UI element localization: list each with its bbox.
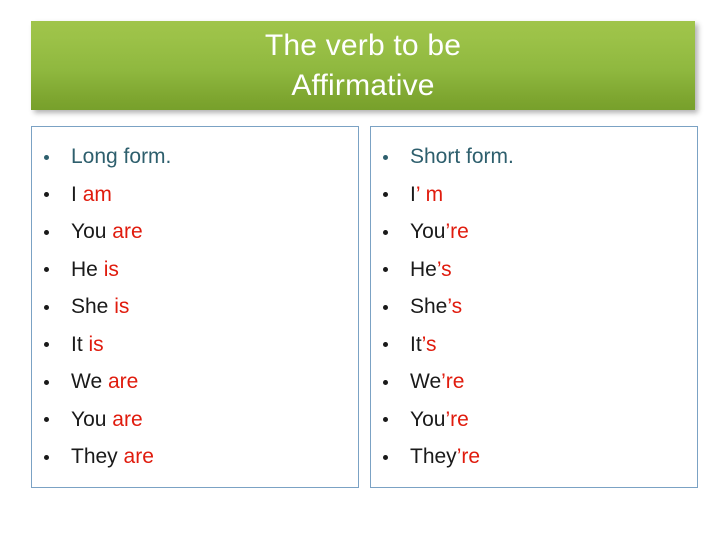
verb-form: ’re — [445, 220, 468, 243]
list-item: You are — [32, 213, 358, 251]
bullet-dot-icon — [383, 455, 388, 460]
bullet-dot-icon — [44, 192, 49, 197]
list-item: He’s — [371, 251, 697, 289]
subject-pronoun: We — [71, 370, 102, 393]
list-item-heading-label: Short form. — [410, 145, 514, 168]
list-item: She’s — [371, 288, 697, 326]
subject-pronoun: He — [71, 258, 98, 281]
list-item-heading: Short form. — [371, 138, 697, 176]
subject-pronoun: You — [410, 408, 445, 431]
bullet-dot-icon — [383, 417, 388, 422]
bullet-dot-icon — [44, 342, 49, 347]
title-line-2: Affirmative — [291, 66, 434, 106]
list-item: They’re — [371, 438, 697, 476]
list-item: I am — [32, 176, 358, 214]
list-item: He is — [32, 251, 358, 289]
verb-form: is — [104, 258, 119, 281]
bullet-dot-icon — [44, 267, 49, 272]
list-item: You’re — [371, 213, 697, 251]
list-item: It’s — [371, 326, 697, 364]
long-form-box: Long form.I amYou areHe isShe isIt isWe … — [31, 126, 359, 488]
verb-form: are — [108, 370, 138, 393]
subject-pronoun: You — [71, 220, 106, 243]
bullet-dot-icon — [383, 380, 388, 385]
long-form-list: Long form.I amYou areHe isShe isIt isWe … — [32, 127, 358, 476]
short-form-list: Short form.I’ mYou’reHe’sShe’sIt’sWe’reY… — [371, 127, 697, 476]
short-form-box: Short form.I’ mYou’reHe’sShe’sIt’sWe’reY… — [370, 126, 698, 488]
list-item: You’re — [371, 401, 697, 439]
subject-pronoun: He — [410, 258, 437, 281]
verb-form: is — [114, 295, 129, 318]
title-line-1: The verb to be — [265, 26, 461, 66]
bullet-dot-icon — [44, 417, 49, 422]
verb-form: ’ m — [416, 183, 443, 206]
bullet-dot-icon — [383, 342, 388, 347]
verb-form: are — [124, 445, 154, 468]
verb-form: ’re — [457, 445, 480, 468]
subject-pronoun: She — [71, 295, 108, 318]
list-item: You are — [32, 401, 358, 439]
list-item: I’ m — [371, 176, 697, 214]
bullet-dot-icon — [383, 305, 388, 310]
bullet-dot-icon — [44, 230, 49, 235]
verb-form: are — [112, 408, 142, 431]
bullet-dot-icon — [44, 455, 49, 460]
verb-form: am — [83, 183, 112, 206]
subject-pronoun: They — [410, 445, 457, 468]
list-item: We are — [32, 363, 358, 401]
list-item: We’re — [371, 363, 697, 401]
bullet-dot-icon — [383, 267, 388, 272]
subject-pronoun: We — [410, 370, 441, 393]
bullet-dot-icon — [383, 155, 388, 160]
subject-pronoun: You — [71, 408, 106, 431]
verb-form: ’re — [441, 370, 464, 393]
list-item: It is — [32, 326, 358, 364]
subject-pronoun: I — [71, 183, 77, 206]
list-item: She is — [32, 288, 358, 326]
subject-pronoun: It — [71, 333, 83, 356]
subject-pronoun: She — [410, 295, 447, 318]
subject-pronoun: You — [410, 220, 445, 243]
list-item: They are — [32, 438, 358, 476]
bullet-dot-icon — [44, 155, 49, 160]
verb-form: ’re — [445, 408, 468, 431]
list-item-heading: Long form. — [32, 138, 358, 176]
list-item-heading-label: Long form. — [71, 145, 171, 168]
verb-form: is — [89, 333, 104, 356]
slide-canvas: The verb to be Affirmative Long form.I a… — [0, 0, 728, 546]
verb-form: ’s — [447, 295, 462, 318]
bullet-dot-icon — [383, 192, 388, 197]
title-banner: The verb to be Affirmative — [31, 21, 695, 110]
verb-form: are — [112, 220, 142, 243]
verb-form: ’s — [422, 333, 437, 356]
bullet-dot-icon — [44, 305, 49, 310]
bullet-dot-icon — [383, 230, 388, 235]
verb-form: ’s — [437, 258, 452, 281]
subject-pronoun: They — [71, 445, 118, 468]
bullet-dot-icon — [44, 380, 49, 385]
subject-pronoun: It — [410, 333, 422, 356]
